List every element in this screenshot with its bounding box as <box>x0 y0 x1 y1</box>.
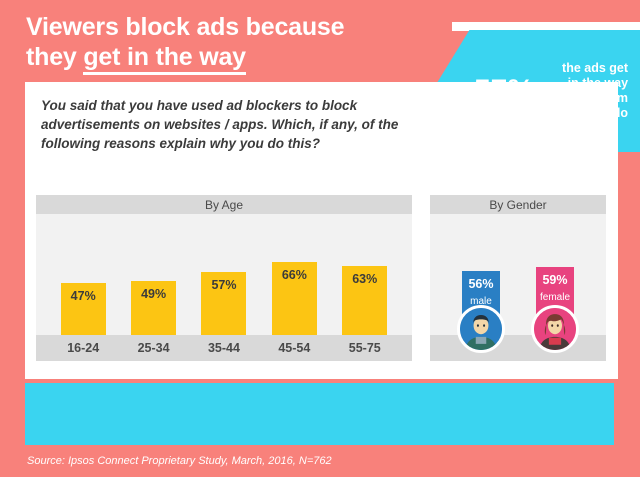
gender-bar-group: 56% male <box>430 214 606 361</box>
avatar-male <box>457 305 505 353</box>
age-bar: 57% <box>201 272 246 335</box>
gender-label-female: female <box>536 287 574 303</box>
content-card: You said that you have used ad blockers … <box>25 82 618 379</box>
title-line-1: Viewers block ads because <box>26 13 344 41</box>
age-bar-value: 49% <box>141 287 166 335</box>
callout-white-strip-top <box>452 22 640 31</box>
age-axis-tick: 45-54 <box>272 341 317 355</box>
panel-header-by-age: By Age <box>36 195 412 214</box>
avatar-female <box>531 305 579 353</box>
age-axis-labels: 16-2425-3435-4445-5455-75 <box>36 335 412 361</box>
survey-question-text: You said that you have used ad blockers … <box>41 96 441 153</box>
title-line-2-underlined: get in the way <box>83 43 246 75</box>
age-bar: 49% <box>131 281 176 335</box>
callout-text-line-1: the ads get <box>542 61 628 76</box>
age-bar-value: 47% <box>71 289 96 335</box>
age-bar: 47% <box>61 283 106 335</box>
age-axis-tick: 55-75 <box>342 341 387 355</box>
chart-panel-by-age: By Age 47%49%57%66%63% 16-2425-3435-4445… <box>36 195 412 361</box>
gender-value-female: 59% <box>536 267 574 287</box>
age-bar-value: 66% <box>282 268 307 335</box>
male-person-icon <box>460 308 502 350</box>
gender-item-female: 59% female <box>525 214 585 361</box>
source-footnote: Source: Ipsos Connect Proprietary Study,… <box>27 455 332 467</box>
gender-item-male: 56% male <box>451 214 511 361</box>
title-line-2: they get in the way <box>26 42 456 72</box>
age-bar: 66% <box>272 262 317 335</box>
female-person-icon <box>534 308 576 350</box>
age-axis-tick: 25-34 <box>131 341 176 355</box>
age-bar-group: 47%49%57%66%63% <box>36 225 412 335</box>
chart-panel-by-gender: By Gender 56% male <box>430 195 606 361</box>
age-bar-value: 57% <box>211 278 236 335</box>
panel-header-by-gender: By Gender <box>430 195 606 214</box>
age-bar-value: 63% <box>352 272 377 335</box>
bottom-accent-band <box>25 383 614 445</box>
age-axis-tick: 16-24 <box>61 341 106 355</box>
age-chart-plot-area: 47%49%57%66%63% 16-2425-3435-4445-5455-7… <box>36 214 412 361</box>
infographic-slide: Viewers block ads because they get in th… <box>0 0 640 477</box>
age-bar: 63% <box>342 266 387 335</box>
age-axis-tick: 35-44 <box>201 341 246 355</box>
page-title: Viewers block ads because they get in th… <box>26 12 456 72</box>
gender-chart-plot-area: 56% male <box>430 214 606 361</box>
gender-value-male: 56% <box>462 271 500 291</box>
title-line-2-prefix: they <box>26 43 83 71</box>
